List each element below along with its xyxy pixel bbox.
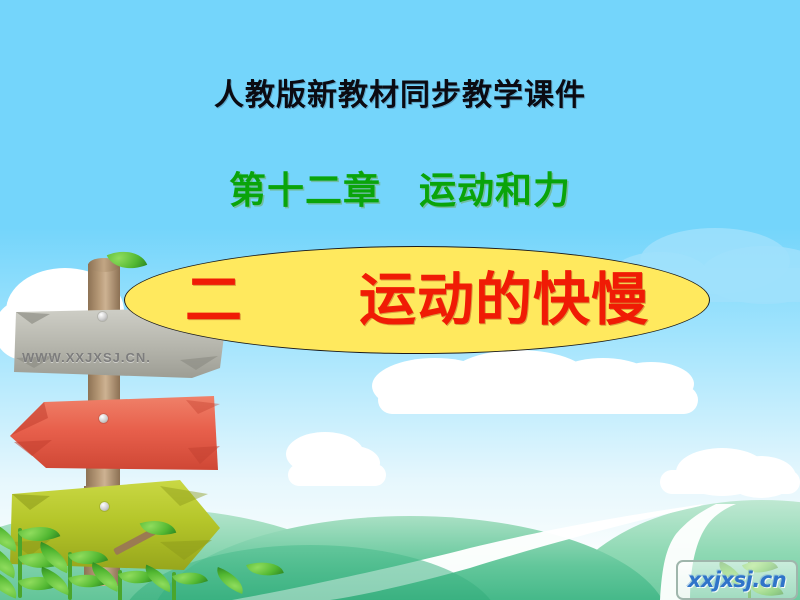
signpost-red-arrow [8,392,258,482]
watermark-label: xxjxsj.cn [678,562,796,598]
chapter-title: 第十二章 运动和力 [0,160,800,214]
leaf-icon [172,565,208,592]
title-ellipse: 二 运动的快慢 [124,246,710,354]
page-subtitle: 人教版新教材同步教学课件 [0,70,800,114]
page-title: 二 运动的快慢 [125,247,709,353]
signpost-screw [100,502,109,511]
plants-group [0,520,230,600]
watermark-badge: xxjxsj.cn [676,560,798,600]
signpost-screw [99,414,108,423]
slide-canvas: WWW.XXJXSJ.CN. [0,0,800,600]
signpost-screw [98,312,107,321]
